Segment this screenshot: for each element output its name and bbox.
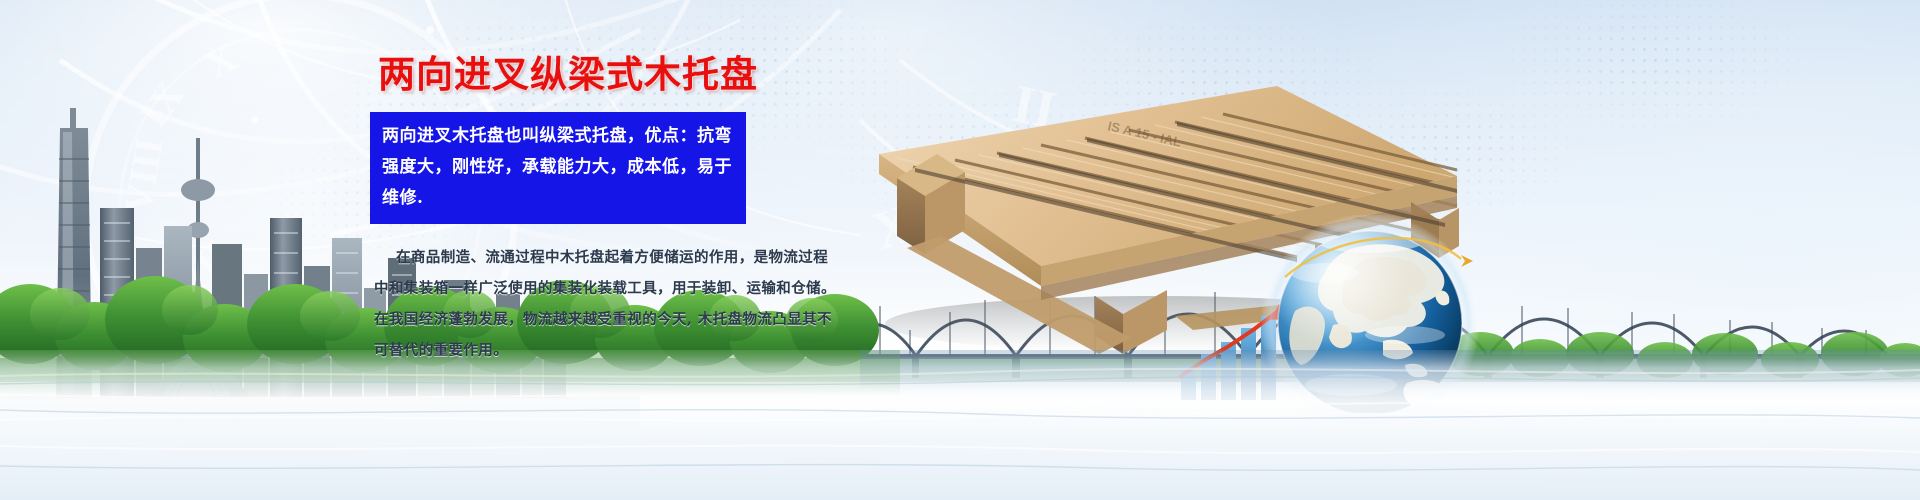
highlight-callout-box: 两向进叉木托盘也叫纵梁式托盘，优点：抗弯强度大，刚性好，承载能力大，成本低，易于… — [370, 112, 746, 224]
product-banner: VIII VII VI V IX X — [0, 0, 1920, 500]
banner-text-block: 两向进叉纵梁式木托盘 两向进叉木托盘也叫纵梁式托盘，优点：抗弯强度大，刚性好，承… — [370, 44, 850, 366]
airplane-icon — [1461, 255, 1473, 267]
description-paragraph: 在商品制造、流通过程中木托盘起着方便储运的作用，是物流过程中和集装箱一样广泛使用… — [370, 242, 842, 366]
page-title: 两向进叉纵梁式木托盘 — [370, 44, 850, 98]
water-streak-lines — [0, 350, 1920, 500]
highlight-text: 两向进叉木托盘也叫纵梁式托盘，优点：抗弯强度大，刚性好，承载能力大，成本低，易于… — [382, 121, 734, 214]
